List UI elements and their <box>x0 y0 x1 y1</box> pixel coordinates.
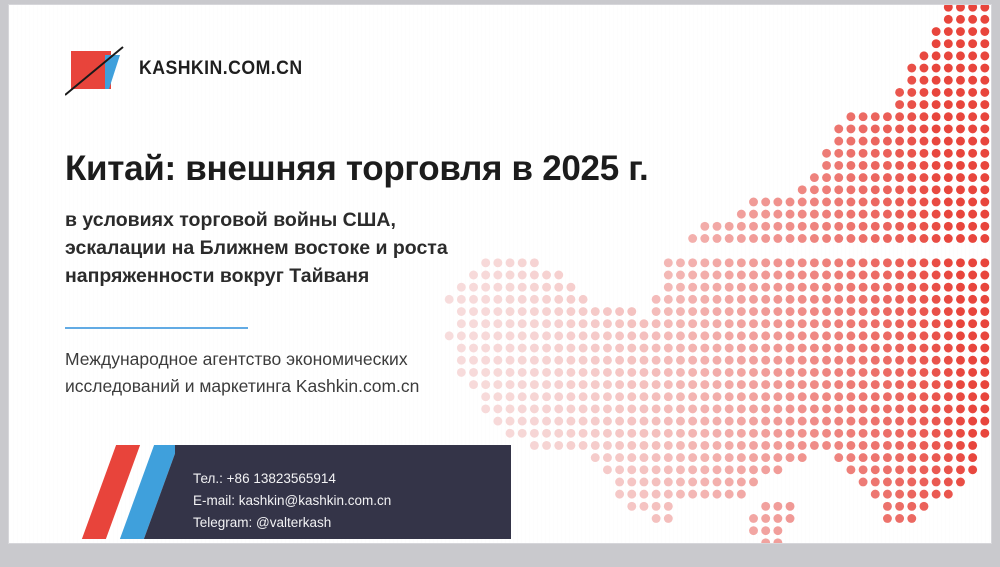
agency-description: Международное агентство экономических ис… <box>65 346 485 399</box>
kashkin-logo-mark <box>65 41 127 97</box>
brand-logo[interactable]: KASHKIN.COM.CN <box>65 41 315 97</box>
contact-lines: Тел.: +86 13823565914 E-mail: kashkin@ka… <box>193 468 391 534</box>
logo-wordmark: KASHKIN.COM.CN <box>139 58 303 80</box>
contact-phone[interactable]: Тел.: +86 13823565914 <box>193 468 391 490</box>
contact-telegram[interactable]: Telegram: @valterkash <box>193 512 391 534</box>
accent-divider <box>65 327 248 329</box>
contact-email[interactable]: E-mail: kashkin@kashkin.com.cn <box>193 490 391 512</box>
page-subtitle: в условиях торговой войны США, эскалации… <box>65 206 495 291</box>
slide-canvas: KASHKIN.COM.CN Китай: внешняя торговля в… <box>8 4 992 544</box>
page-title: Китай: внешняя торговля в 2025 г. <box>65 150 648 188</box>
headline-block: Китай: внешняя торговля в 2025 г. в усло… <box>65 150 648 291</box>
